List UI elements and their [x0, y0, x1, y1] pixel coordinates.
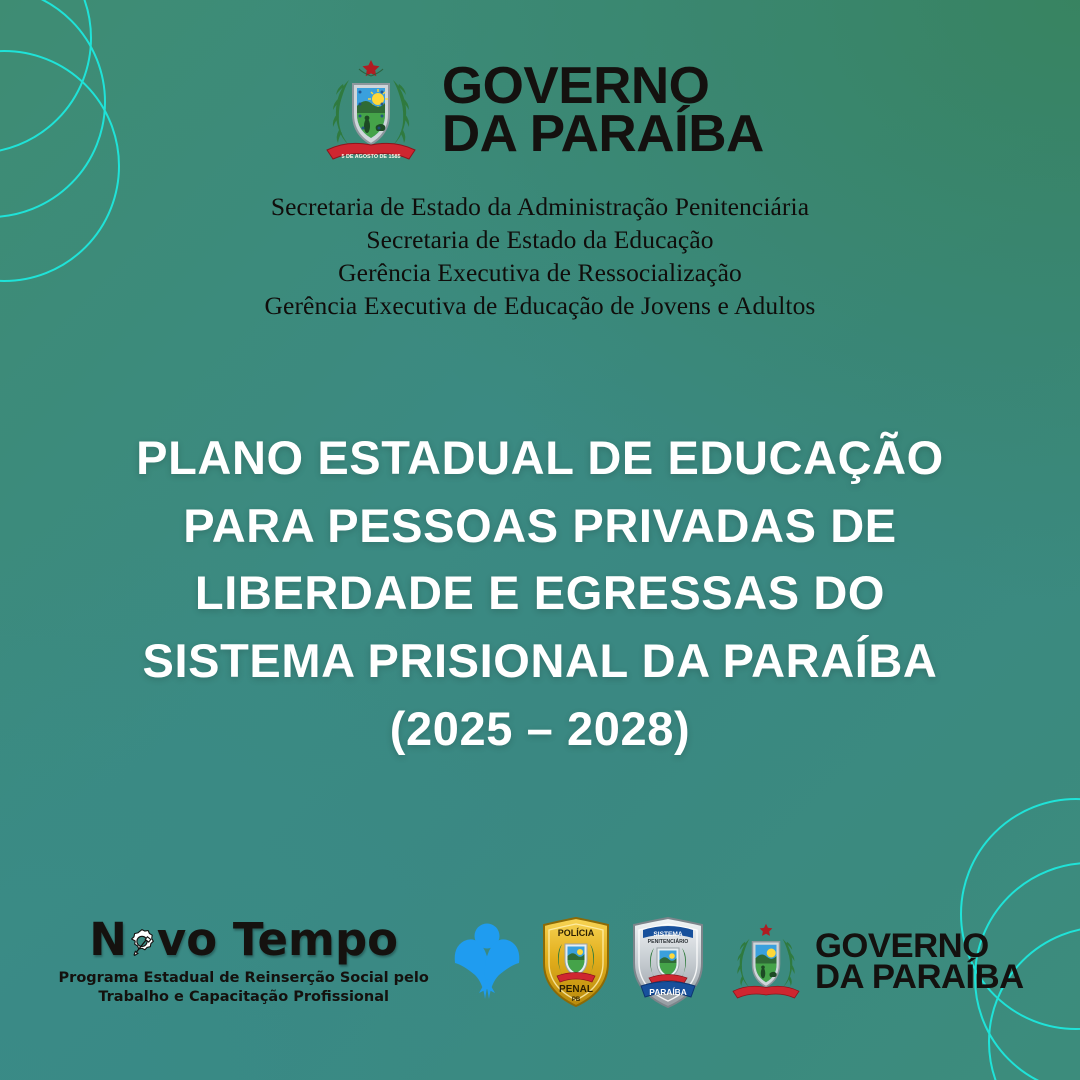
svg-text:PB: PB [572, 997, 581, 1003]
secretaria-line-4: Gerência Executiva de Educação de Jovens… [265, 289, 816, 322]
svg-text:PENITENCIÁRIO: PENITENCIÁRIO [647, 938, 688, 945]
novo-tempo-wordmark: N vo Tempo [59, 917, 429, 962]
novo-tempo-word-before: N [89, 913, 127, 966]
novo-tempo-word-after: vo Tempo [157, 913, 398, 966]
svg-text:PARAÍBA: PARAÍBA [649, 986, 687, 997]
governo-wordmark: GOVERNO DA PARAÍBA [445, 63, 761, 159]
governo-wordmark-line2: DA PARAÍBA [442, 111, 764, 159]
policia-penal-badge-icon: POLÍCIA PENAL PB [539, 916, 613, 1008]
policia-penal-badge: POLÍCIA PENAL PB [539, 916, 613, 1008]
gear-pencil-icon [125, 927, 159, 961]
secretaria-line-2: Secretaria de Estado da Educação [265, 223, 816, 256]
governo-wordmark-line1: GOVERNO [442, 63, 764, 111]
sistema-penitenciario-badge: SISTEMA PENITENCIÁRIO PARAÍBA [629, 916, 707, 1008]
poster-canvas: 5 DE AGOSTO DE 1585 GOVERNO DA PARAÍBA S… [0, 0, 1080, 1080]
svg-text:5 DE AGOSTO DE 1585: 5 DE AGOSTO DE 1585 [342, 154, 401, 160]
secretarias-list: Secretaria de Estado da Administração Pe… [265, 190, 816, 323]
government-logo-lockup: 5 DE AGOSTO DE 1585 GOVERNO DA PARAÍBA [319, 58, 761, 164]
footer-logo-bar: N vo Tempo Programa Estadual de Reinserç… [0, 916, 1080, 1008]
title-line-3: LIBERDADE E EGRESSAS DO [0, 559, 1080, 627]
secretaria-line-3: Gerência Executiva de Ressocialização [265, 256, 816, 289]
leaf-person-logo [451, 921, 523, 1003]
governo-footer-wordmark: GOVERNO DA PARAÍBA [817, 931, 1022, 994]
svg-text:PENAL: PENAL [559, 984, 593, 995]
title-line-2: PARA PESSOAS PRIVADAS DE [0, 492, 1080, 560]
novo-tempo-subtitle: Programa Estadual de Reinserção Social p… [59, 969, 429, 1006]
title-line-4: SISTEMA PRISIONAL DA PARAÍBA [0, 627, 1080, 695]
governo-footer-line2: DA PARAÍBA [815, 962, 1024, 993]
title-line-5: (2025 – 2028) [0, 695, 1080, 763]
leaf-person-icon [451, 921, 523, 1003]
coat-of-arms-icon [727, 920, 805, 1004]
header: 5 DE AGOSTO DE 1585 GOVERNO DA PARAÍBA S… [0, 0, 1080, 323]
novo-tempo-subtitle-line1: Programa Estadual de Reinserção Social p… [59, 969, 429, 988]
title-line-1: PLANO ESTADUAL DE EDUCAÇÃO [0, 424, 1080, 492]
novo-tempo-subtitle-line2: Trabalho e Capacitação Profissional [59, 988, 429, 1007]
secretaria-line-1: Secretaria de Estado da Administração Pe… [265, 190, 816, 223]
novo-tempo-logo: N vo Tempo Programa Estadual de Reinserç… [59, 917, 429, 1006]
coat-of-arms-icon: 5 DE AGOSTO DE 1585 [319, 58, 423, 164]
page-title: PLANO ESTADUAL DE EDUCAÇÃO PARA PESSOAS … [0, 424, 1080, 762]
governo-footer-lockup: GOVERNO DA PARAÍBA [727, 920, 1022, 1004]
svg-text:POLÍCIA: POLÍCIA [558, 928, 595, 938]
sistema-penitenciario-badge-icon: SISTEMA PENITENCIÁRIO PARAÍBA [629, 916, 707, 1008]
svg-text:SISTEMA: SISTEMA [653, 931, 683, 938]
